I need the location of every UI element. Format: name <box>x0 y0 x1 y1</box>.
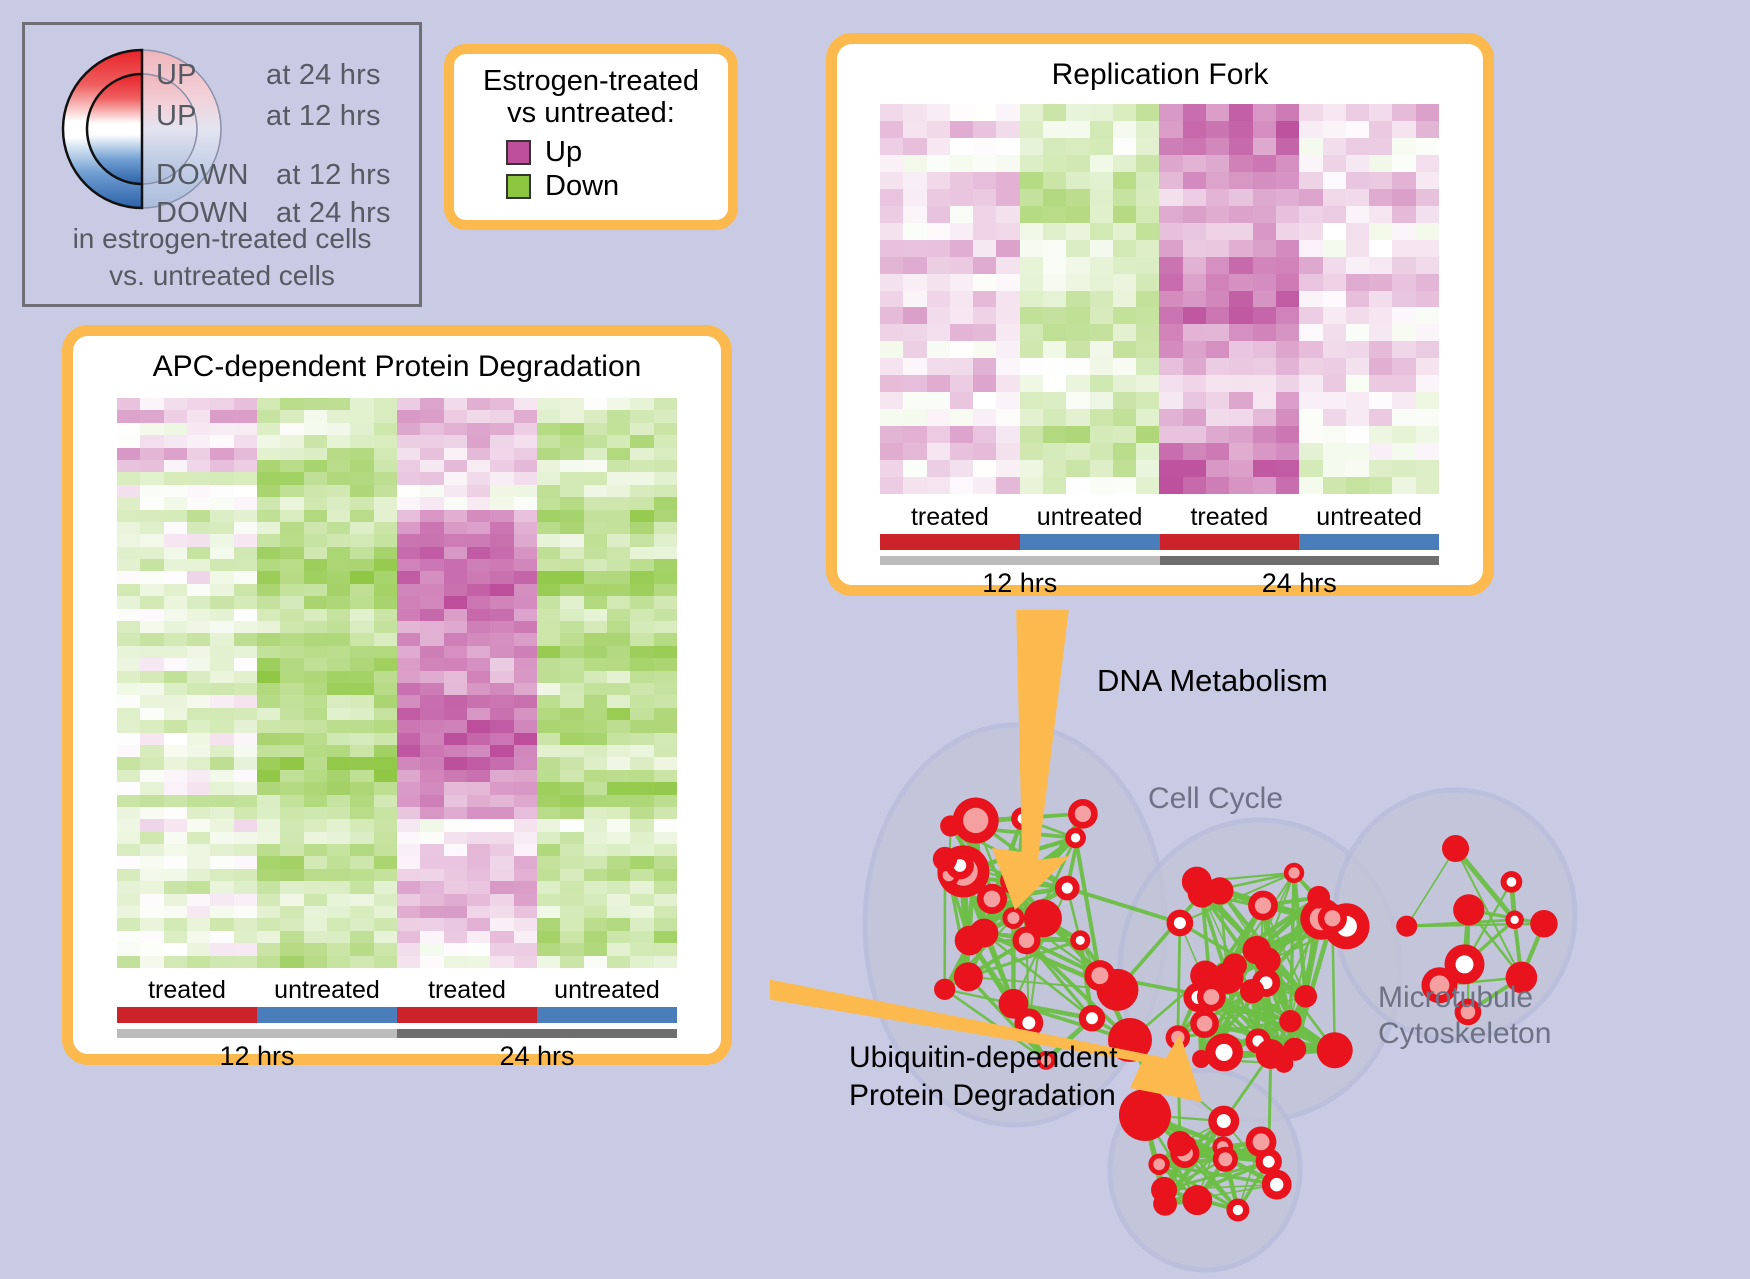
replication-fork-treatment-bar <box>880 534 1439 550</box>
treatment-bar-segment <box>397 1007 537 1023</box>
network-node <box>1284 863 1304 883</box>
network-node <box>1243 936 1271 964</box>
network-node <box>1275 1054 1294 1073</box>
network-node <box>1530 910 1558 938</box>
treatment-bar-segment <box>880 534 1020 550</box>
network-node <box>1153 1192 1177 1216</box>
network-node <box>1167 1131 1192 1156</box>
treatment-bar-segment <box>1020 534 1160 550</box>
network-node <box>1148 1154 1169 1175</box>
network-node <box>1442 835 1469 862</box>
group-label: untreated <box>537 976 677 1005</box>
legend-items: Up Down <box>454 136 728 204</box>
cluster-label-ubiquitin-degradation: Ubiquitin-dependent Protein Degradation <box>849 1039 1118 1114</box>
updown-legend-card: Estrogen-treated vs untreated: Up Down <box>444 44 738 230</box>
replication-fork-card: Replication Fork treateduntreatedtreated… <box>826 33 1494 596</box>
network-node <box>1068 799 1098 829</box>
group-label: untreated <box>1299 503 1439 532</box>
network-node <box>1182 1185 1212 1215</box>
network-node <box>1248 891 1278 921</box>
network-node <box>1190 1009 1219 1038</box>
network-node <box>1396 916 1417 937</box>
network-node <box>1197 983 1226 1012</box>
apc-time-bar <box>117 1029 677 1038</box>
treatment-bar-segment <box>537 1007 677 1023</box>
cluster-label-microtubule-cytoskeleton: Microtubule Cytoskeleton <box>1378 980 1551 1052</box>
replication-fork-time-labels: 12 hrs24 hrs <box>880 568 1439 599</box>
up-swatch-icon <box>506 140 531 165</box>
treatment-bar-segment <box>257 1007 397 1023</box>
time-bar-segment <box>117 1029 397 1038</box>
network-node <box>1079 1005 1105 1031</box>
apc-degradation-title: APC-dependent Protein Degradation <box>73 350 721 384</box>
time-label: 24 hrs <box>1160 568 1440 599</box>
network-node <box>1318 904 1347 933</box>
time-label: 12 hrs <box>117 1041 397 1072</box>
network-node <box>1240 979 1264 1003</box>
network-node <box>1453 894 1484 925</box>
apc-degradation-card: APC-dependent Protein Degradation treate… <box>62 325 732 1065</box>
cluster-label-cell-cycle: Cell Cycle <box>1148 782 1283 816</box>
legend-item-down: Down <box>506 170 728 204</box>
network-node <box>1192 1050 1210 1068</box>
treatment-bar-segment <box>1299 534 1439 550</box>
cluster-label-dna-metabolism: DNA Metabolism <box>1097 663 1328 699</box>
color-key-footer: in estrogen-treated cells vs. untreated … <box>25 221 419 295</box>
network-node <box>1262 1170 1292 1200</box>
color-key-panel: UP at 24 hrs UP at 12 hrs DOWN at 12 hrs… <box>22 22 422 307</box>
group-label: treated <box>397 976 537 1005</box>
network-node <box>1055 876 1080 901</box>
network-node <box>1208 1106 1239 1137</box>
network-node <box>1188 879 1217 908</box>
time-bar-segment <box>880 556 1160 565</box>
network-node <box>1279 1010 1301 1032</box>
group-label: treated <box>880 503 1020 532</box>
network-node <box>933 847 957 871</box>
network-node <box>1205 1033 1243 1071</box>
treatment-bar-segment <box>1160 534 1300 550</box>
network-node <box>1065 827 1086 848</box>
network-node <box>1294 985 1317 1008</box>
network-node <box>1070 930 1090 950</box>
network-node <box>1501 871 1523 893</box>
legend-item-up: Up <box>506 136 728 170</box>
apc-degradation-heatmap <box>117 398 677 968</box>
time-bar-segment <box>397 1029 677 1038</box>
time-label: 12 hrs <box>880 568 1160 599</box>
apc-group-labels: treateduntreatedtreateduntreated <box>117 976 677 1005</box>
network-node <box>1167 910 1194 937</box>
apc-treatment-bar <box>117 1007 677 1023</box>
replication-fork-title: Replication Fork <box>837 58 1483 92</box>
time-label: 24 hrs <box>397 1041 677 1072</box>
legend-title: Estrogen-treated vs untreated: <box>454 54 728 130</box>
network-node <box>955 926 985 956</box>
network-node <box>1084 960 1115 991</box>
group-label: untreated <box>1020 503 1160 532</box>
treatment-bar-segment <box>117 1007 257 1023</box>
time-bar-segment <box>1160 556 1440 565</box>
group-label: treated <box>1160 503 1300 532</box>
network-node <box>1307 886 1330 909</box>
network-node <box>1002 907 1024 929</box>
network-node <box>1505 911 1524 930</box>
network-node <box>1119 1089 1171 1141</box>
apc-time-labels: 12 hrs24 hrs <box>117 1041 677 1072</box>
group-label: treated <box>117 976 257 1005</box>
function-network-graph <box>770 610 1750 1279</box>
network-node <box>1246 1127 1277 1158</box>
down-swatch-icon <box>506 174 531 199</box>
network-node <box>977 884 1007 914</box>
network-node <box>1226 1199 1249 1222</box>
network-node <box>940 815 961 836</box>
network-node <box>1213 1147 1238 1172</box>
network-node <box>934 979 955 1000</box>
network-node <box>1012 926 1040 954</box>
network-node <box>954 962 983 991</box>
replication-fork-time-bar <box>880 556 1439 565</box>
replication-fork-group-labels: treateduntreatedtreateduntreated <box>880 503 1439 532</box>
network-node <box>1317 1032 1353 1068</box>
group-label: untreated <box>257 976 397 1005</box>
replication-fork-heatmap <box>880 104 1439 494</box>
figure-canvas: UP at 24 hrs UP at 12 hrs DOWN at 12 hrs… <box>0 0 1750 1279</box>
